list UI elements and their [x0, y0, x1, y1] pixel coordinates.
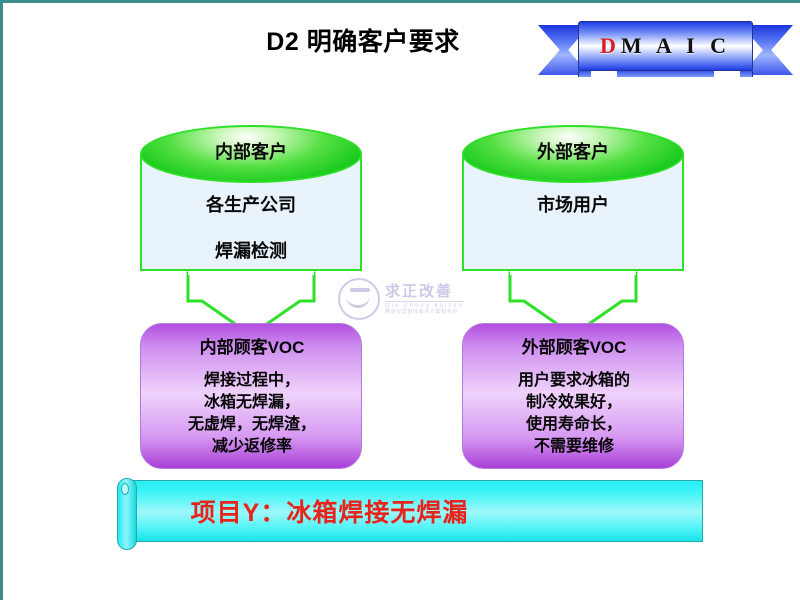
watermark-cn: 求正改善 [385, 284, 464, 299]
cylinder-line-1: 各生产公司 [140, 191, 362, 217]
ribbon-foot-notch-right [714, 70, 740, 78]
cylinder-line-2: 焊漏检测 [140, 237, 362, 263]
voc-heading: 外部顾客VOC [463, 333, 685, 358]
watermark-sub: 精益运营整体解决方案服务商 [385, 310, 464, 315]
watermark-text: 求正改善 Qiu Zheng kaizen 精益运营整体解决方案服务商 [385, 284, 464, 315]
dmaic-ribbon: DM A I C [538, 21, 793, 79]
slide-canvas: D2 明确客户要求 DM A I C 内部客户 各生产公司 焊漏检测 外部客户 … [0, 0, 800, 600]
ribbon-plate: DM A I C [578, 21, 753, 71]
watermark-en: Qiu Zheng kaizen [385, 301, 464, 309]
voc-box-internal: 内部顾客VOC 焊接过程中，冰箱无焊漏，无虚焊，无焊渣，减少返修率 [140, 323, 362, 469]
dmaic-label: DM A I C [600, 33, 731, 59]
banner-text: 项目Y：冰箱焊接无焊漏 [126, 480, 703, 542]
cylinder-line-1: 市场用户 [462, 191, 684, 217]
dmaic-letter-d: D [600, 33, 621, 58]
project-y-banner: 项目Y：冰箱焊接无焊漏 [106, 480, 703, 548]
source-cylinder-internal: 内部客户 各生产公司 焊漏检测 [140, 125, 362, 285]
page-title: D2 明确客户要求 [183, 29, 543, 57]
source-cylinder-external: 外部客户 市场用户 [462, 125, 684, 285]
cylinder-title: 外部客户 [462, 138, 684, 164]
voc-body: 焊接过程中，冰箱无焊漏，无虚焊，无焊渣，减少返修率 [141, 370, 363, 458]
banner-curl-hole-icon [121, 483, 129, 495]
voc-heading: 内部顾客VOC [141, 333, 363, 358]
cylinder-title: 内部客户 [140, 138, 362, 164]
ribbon-foot-notch-left [591, 70, 617, 78]
voc-body: 用户要求冰箱的制冷效果好，使用寿命长，不需要维修 [463, 370, 685, 458]
voc-box-external: 外部顾客VOC 用户要求冰箱的制冷效果好，使用寿命长，不需要维修 [462, 323, 684, 469]
dmaic-letters-rest: M A I C [621, 33, 731, 58]
